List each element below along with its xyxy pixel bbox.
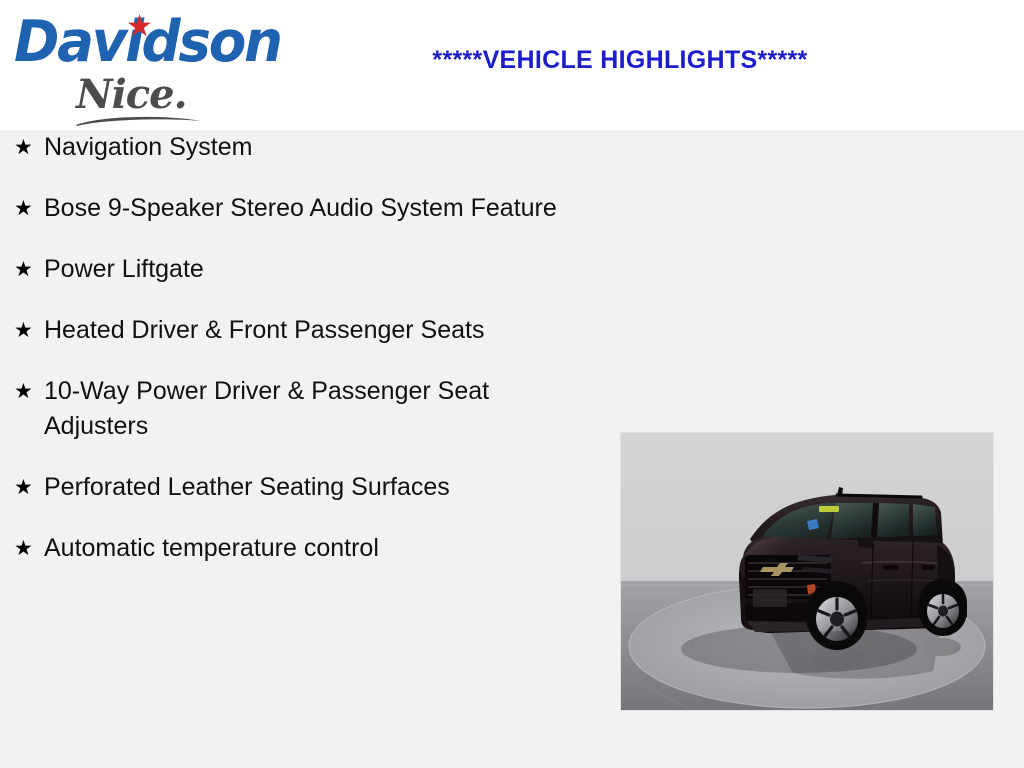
list-item: ★ Bose 9-Speaker Stereo Audio System Fea…	[0, 191, 574, 226]
list-item: ★ Automatic temperature control	[0, 531, 574, 566]
logo-swoosh-underline	[74, 114, 202, 127]
vehicle-photo[interactable]	[621, 433, 993, 710]
star-bullet-icon: ★	[14, 470, 33, 505]
list-item: ★ Navigation System	[0, 130, 574, 165]
list-item-label: Power Liftgate	[44, 252, 574, 287]
dealer-logo[interactable]: Davidson ★ Nice.	[14, 6, 264, 124]
page-title: *****VEHICLE HIGHLIGHTS*****	[270, 46, 970, 75]
star-bullet-icon: ★	[14, 531, 33, 566]
list-item-label: Heated Driver & Front Passenger Seats	[44, 313, 574, 348]
star-bullet-icon: ★	[14, 252, 33, 287]
list-item-label: Navigation System	[44, 130, 574, 165]
list-item: ★ Perforated Leather Seating Surfaces	[0, 470, 574, 505]
logo-subtitle: Nice.	[76, 75, 187, 115]
list-item-label: Automatic temperature control	[44, 531, 574, 566]
star-icon: ★	[126, 12, 153, 42]
star-bullet-icon: ★	[14, 313, 33, 348]
list-item-label: Bose 9-Speaker Stereo Audio System Featu…	[44, 191, 574, 226]
list-item-label: 10-Way Power Driver & Passenger Seat Adj…	[44, 374, 574, 444]
list-item: ★ Heated Driver & Front Passenger Seats	[0, 313, 574, 348]
page-body: ★ Navigation System ★ Bose 9-Speaker Ste…	[0, 130, 1024, 768]
list-item-label: Perforated Leather Seating Surfaces	[44, 470, 574, 505]
star-bullet-icon: ★	[14, 191, 33, 226]
star-bullet-icon: ★	[14, 130, 33, 165]
list-item: ★ Power Liftgate	[0, 252, 574, 287]
page-header: Davidson ★ Nice. *****VEHICLE HIGHLIGHTS…	[0, 0, 1024, 130]
star-bullet-icon: ★	[14, 374, 33, 409]
vehicle-highlights-page: Davidson ★ Nice. *****VEHICLE HIGHLIGHTS…	[0, 0, 1024, 768]
list-item: ★ 10-Way Power Driver & Passenger Seat A…	[0, 374, 574, 444]
vehicle-highlights-list: ★ Navigation System ★ Bose 9-Speaker Ste…	[0, 130, 600, 592]
